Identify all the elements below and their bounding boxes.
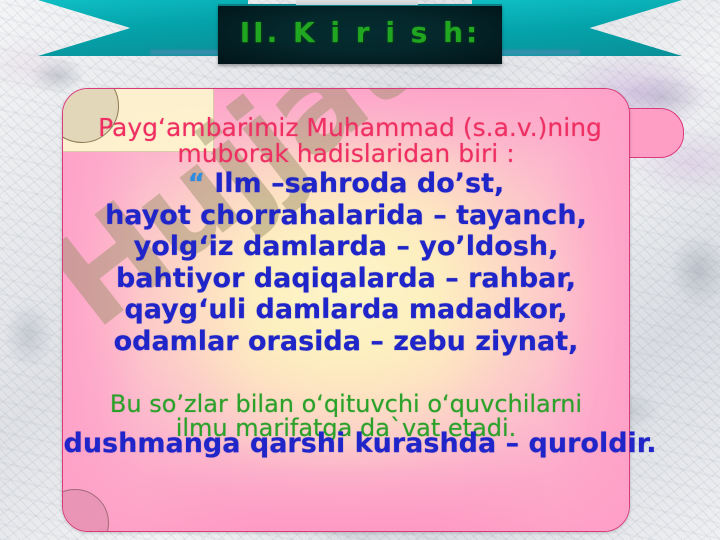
quote-line-1-text: Ilm –sahroda do’st, <box>205 168 504 199</box>
quote-mark-icon: “ <box>188 169 205 199</box>
quote-line-1: “ Ilm –sahroda do’st, <box>63 170 629 198</box>
quote-line-7: dushmanga qarshi kurashda – quroldir. <box>0 428 720 459</box>
quote-line-2: hayot chorrahalarida – tayanch, <box>63 202 629 230</box>
quote-line-5: qayg‘uli damlarda madadkor, <box>63 296 629 324</box>
content-card: Hujjat Payg‘ambarimiz Muhammad (s.a.v.)n… <box>62 88 630 532</box>
quote-line-4: bahtiyor daqiqalarda – rahbar, <box>63 265 629 293</box>
ribbon-left-tail <box>38 0 248 56</box>
title-ribbon: II. K i r i s h: <box>0 0 720 72</box>
page-title: II. K i r i s h: <box>218 5 502 59</box>
quote-line-3: yolg‘iz damlarda – yo’ldosh, <box>63 233 629 261</box>
quote-line-6: odamlar orasida – zebu ziynat, <box>63 328 629 356</box>
slide-canvas: II. K i r i s h: Hujjat Payg‘ambarimiz M… <box>0 0 720 540</box>
outro-line-1: Bu so’zlar bilan o‘qituvchi o‘quvchilarn… <box>63 392 629 416</box>
card-text-body: Payg‘ambarimiz Muhammad (s.a.v.)ning mub… <box>63 89 629 531</box>
intro-line-1: Payg‘ambarimiz Muhammad (s.a.v.)ning <box>67 115 630 141</box>
ribbon-right-tail <box>472 0 682 56</box>
intro-line-2: muborak hadislaridan biri : <box>63 141 629 167</box>
